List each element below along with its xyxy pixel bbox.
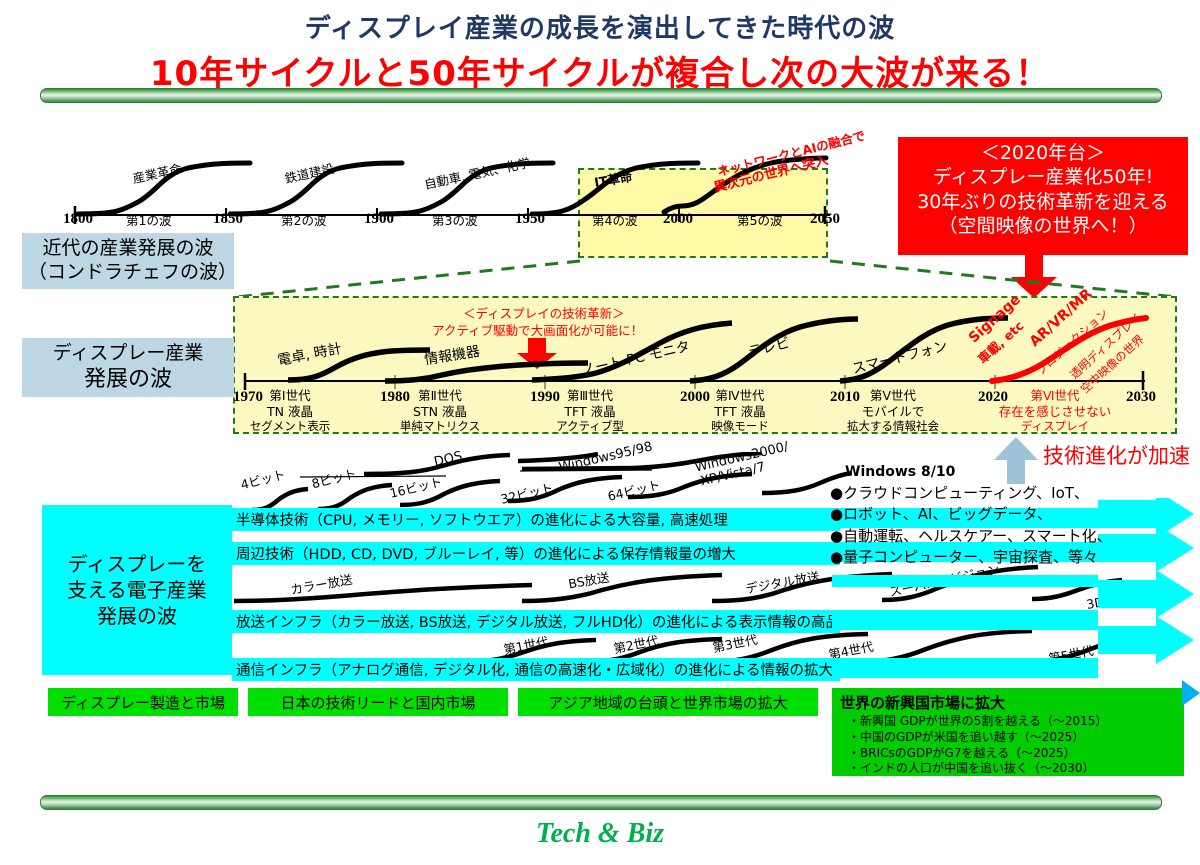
emerging-item-4: ・インドの人口が中国を追い抜く（～2030） (848, 761, 1176, 777)
display-wave-label-line1: ディスプレー産業 (28, 342, 228, 366)
display-generation-5: 第Ⅴ世代 モバイルで 拡大する情報社会 (828, 388, 958, 434)
generation-4-tech: TFT 液晶 (685, 404, 795, 420)
market-box-1: ディスプレー製造と市場 (48, 688, 238, 716)
bullet-item-4: ●量子コンピューター、宇宙探査、等々 (830, 547, 1182, 568)
generation-3-detail: アクティブ型 (535, 419, 645, 433)
generation-6-detail: ディスプレイ (985, 419, 1125, 433)
electronics-label-line2: 支える電子産業 (42, 577, 232, 603)
electronics-section-label: ディスプレーを 支える電子産業 発展の波 (42, 505, 232, 675)
generation-4-name: 第Ⅳ世代 (685, 388, 795, 404)
bullet-item-2: ●ロボット、AI、ビッグデータ、 (830, 504, 1182, 525)
display-generation-3: 第Ⅲ世代 TFT 液晶 アクティブ型 (535, 388, 645, 434)
kondratiev-section-label-line2: （コンドラチェフの波） (28, 261, 228, 285)
emerging-item-2: ・中国のGDPが米国を追い越す（～2025） (848, 730, 1176, 746)
callout-line1: ＜2020年台＞ (898, 141, 1188, 165)
electronics-label-line1: ディスプレーを (42, 551, 232, 577)
market-box-3: アジア地域の台頭と世界市場の拡大 (518, 688, 818, 716)
generation-5-tech: モバイルで (828, 404, 958, 420)
market-growth-arrow-icon (1182, 680, 1200, 706)
dashed-zoom-connectors (230, 185, 1190, 300)
generation-3-name: 第Ⅲ世代 (535, 388, 645, 404)
os-windows-8-10: Windows 8/10 (845, 464, 955, 480)
emerging-markets-title: 世界の新興国市場に拡大 (840, 692, 1176, 713)
display-year-2030: 2030 (1121, 389, 1161, 406)
generation-5-name: 第Ⅴ世代 (828, 388, 958, 404)
emerging-item-3: ・BRICsのGDPがG7を越える（～2025） (848, 746, 1176, 762)
tech-acceleration-up-arrow-icon (991, 437, 1041, 485)
page-subtitle: ディスプレイ産業の成長を演出してきた時代の波 (0, 8, 1200, 45)
emerging-item-1: ・新興国 GDPが世界の5割を越える（～2015） (848, 714, 1176, 730)
display-generation-2: 第Ⅱ世代 STN 液晶 単純マトリクス (385, 388, 495, 434)
future-tech-bullet-list: ●クラウドコンピューティング、IoT、 ●ロボット、AI、ビッグデータ、 ●自動… (830, 483, 1182, 575)
bottom-divider-bar (40, 795, 1162, 810)
generation-2-detail: 単純マトリクス (385, 419, 495, 433)
bullet-item-3: ●自動運転、ヘルスケアー、スマート化、 (830, 526, 1182, 547)
generation-1-name: 第Ⅰ世代 (235, 388, 345, 404)
semiconductor-band: 半導体技術（CPU, メモリー, ソフトウエア）の進化による大容量, 高速処理 (232, 508, 840, 531)
emerging-markets-panel: 世界の新興国市場に拡大 ・新興国 GDPが世界の5割を越える（～2015） ・中… (832, 688, 1184, 776)
generation-6-name: 第Ⅵ世代 (985, 388, 1125, 404)
generation-1-detail: セグメント表示 (235, 419, 345, 433)
generation-1-tech: TN 液晶 (235, 404, 345, 420)
display-wave-chart (240, 305, 1170, 390)
kondratiev-year-1800: 1800 (48, 211, 108, 228)
display-generation-6: 第Ⅵ世代 存在を感じさせない ディスプレイ (985, 388, 1125, 434)
footer-brand: Tech & Biz (0, 818, 1200, 850)
display-generation-1: 第Ⅰ世代 TN 液晶 セグメント表示 (235, 388, 345, 434)
display-generation-4: 第Ⅳ世代 TFT 液晶 映像モード (685, 388, 795, 434)
display-wave-section-label: ディスプレー産業 発展の波 (22, 338, 234, 397)
display-wave-label-line2: 発展の波 (28, 366, 228, 394)
telecom-band: 通信インフラ（アナログ通信, デジタル化, 通信の高速化・広域化）の進化による情… (232, 658, 840, 681)
electronics-label-line3: 発展の波 (42, 603, 232, 629)
market-box-2: 日本の技術リードと国内市場 (248, 688, 508, 716)
generation-2-name: 第Ⅱ世代 (385, 388, 495, 404)
generation-3-tech: TFT 液晶 (535, 404, 645, 420)
kondratiev-wave-1-label: 第1の波 (126, 210, 171, 229)
top-divider-bar (40, 88, 1162, 103)
generation-4-detail: 映像モード (685, 419, 795, 433)
generation-5-detail: 拡大する情報社会 (828, 419, 958, 433)
kondratiev-section-label: 近代の産業発展の波 （コンドラチェフの波） (22, 233, 234, 289)
bullet-item-1: ●クラウドコンピューティング、IoT、 (830, 483, 1182, 504)
kondratiev-section-label-line1: 近代の産業発展の波 (28, 237, 228, 261)
tech-acceleration-note: 技術進化が加速 (1043, 440, 1190, 470)
cyan-band-extension-2 (832, 610, 1098, 630)
cyan-band-extension (832, 575, 1098, 587)
generation-6-tech: 存在を感じさせない (985, 404, 1125, 420)
emerging-markets-list: ・新興国 GDPが世界の5割を越える（～2015） ・中国のGDPが米国を追い越… (848, 714, 1176, 777)
cyan-band-extension-3 (832, 658, 1098, 678)
generation-2-tech: STN 液晶 (385, 404, 495, 420)
